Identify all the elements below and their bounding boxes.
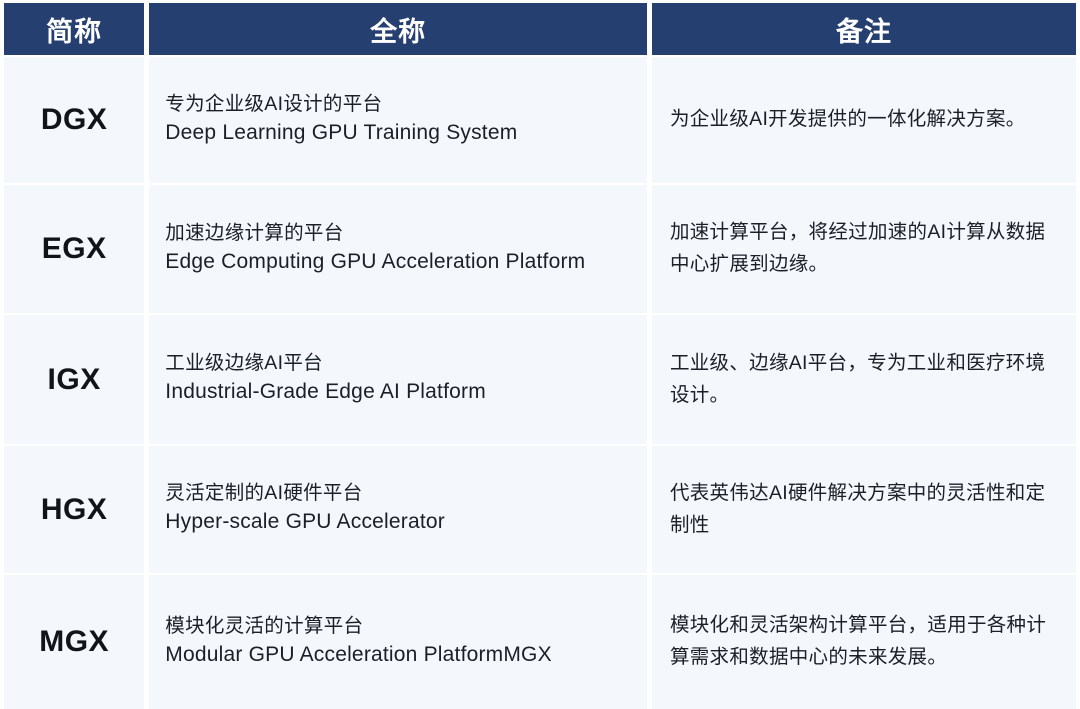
full-name-english: Deep Learning GPU Training System: [165, 117, 639, 149]
table-row: DGX 专为企业级AI设计的平台 Deep Learning GPU Train…: [4, 57, 1076, 183]
column-header-full-name: 全称: [149, 3, 647, 55]
column-header-remarks-label: 备注: [836, 10, 892, 49]
full-name-english: Modular GPU Acceleration PlatformMGX: [165, 639, 639, 671]
column-header-abbreviation: 简称: [4, 3, 144, 55]
abbreviation-text: IGX: [48, 363, 101, 397]
full-name-english: Edge Computing GPU Acceleration Platform: [165, 246, 639, 278]
remarks-text: 为企业级AI开发提供的一体化解决方案。: [670, 104, 1062, 136]
full-name-english: Industrial-Grade Edge AI Platform: [165, 376, 639, 408]
table-body: DGX 专为企业级AI设计的平台 Deep Learning GPU Train…: [4, 57, 1076, 709]
remarks-text: 模块化和灵活架构计算平台，适用于各种计算需求和数据中心的未来发展。: [670, 610, 1062, 673]
cell-remarks: 工业级、边缘AI平台，专为工业和医疗环境设计。: [652, 315, 1076, 444]
abbreviation-text: HGX: [41, 493, 108, 527]
comparison-table: 简称 全称 备注 DGX 专为企业级AI设计的平台 Deep Learning …: [0, 0, 1080, 706]
cell-abbreviation: HGX: [4, 446, 144, 573]
column-header-abbreviation-label: 简称: [46, 10, 102, 49]
cell-remarks: 为企业级AI开发提供的一体化解决方案。: [652, 57, 1076, 183]
cell-abbreviation: EGX: [4, 185, 144, 313]
cell-full-name: 模块化灵活的计算平台 Modular GPU Acceleration Plat…: [149, 575, 647, 709]
cell-remarks: 代表英伟达AI硬件解决方案中的灵活性和定制性: [652, 446, 1076, 573]
cell-abbreviation: MGX: [4, 575, 144, 709]
cell-remarks: 模块化和灵活架构计算平台，适用于各种计算需求和数据中心的未来发展。: [652, 575, 1076, 709]
abbreviation-text: EGX: [42, 232, 107, 266]
cell-full-name: 专为企业级AI设计的平台 Deep Learning GPU Training …: [149, 57, 647, 183]
table-row: IGX 工业级边缘AI平台 Industrial-Grade Edge AI P…: [4, 315, 1076, 444]
cell-abbreviation: DGX: [4, 57, 144, 183]
full-name-english: Hyper-scale GPU Accelerator: [165, 506, 639, 538]
cell-remarks: 加速计算平台，将经过加速的AI计算从数据中心扩展到边缘。: [652, 185, 1076, 313]
cell-abbreviation: IGX: [4, 315, 144, 444]
full-name-chinese: 专为企业级AI设计的平台: [165, 92, 639, 117]
cell-full-name: 灵活定制的AI硬件平台 Hyper-scale GPU Accelerator: [149, 446, 647, 573]
full-name-chinese: 工业级边缘AI平台: [165, 351, 639, 376]
column-header-remarks: 备注: [652, 3, 1076, 55]
remarks-text: 加速计算平台，将经过加速的AI计算从数据中心扩展到边缘。: [670, 217, 1062, 280]
abbreviation-text: MGX: [39, 625, 109, 659]
full-name-chinese: 加速边缘计算的平台: [165, 221, 639, 246]
table-header-row: 简称 全称 备注: [4, 3, 1076, 55]
remarks-text: 工业级、边缘AI平台，专为工业和医疗环境设计。: [670, 348, 1062, 411]
table-row: MGX 模块化灵活的计算平台 Modular GPU Acceleration …: [4, 575, 1076, 709]
full-name-chinese: 模块化灵活的计算平台: [165, 614, 639, 639]
remarks-text: 代表英伟达AI硬件解决方案中的灵活性和定制性: [670, 478, 1062, 541]
cell-full-name: 工业级边缘AI平台 Industrial-Grade Edge AI Platf…: [149, 315, 647, 444]
column-header-full-name-label: 全称: [370, 10, 426, 49]
table-row: HGX 灵活定制的AI硬件平台 Hyper-scale GPU Accelera…: [4, 446, 1076, 573]
full-name-chinese: 灵活定制的AI硬件平台: [165, 481, 639, 506]
cell-full-name: 加速边缘计算的平台 Edge Computing GPU Acceleratio…: [149, 185, 647, 313]
table-row: EGX 加速边缘计算的平台 Edge Computing GPU Acceler…: [4, 185, 1076, 313]
abbreviation-text: DGX: [41, 103, 108, 137]
